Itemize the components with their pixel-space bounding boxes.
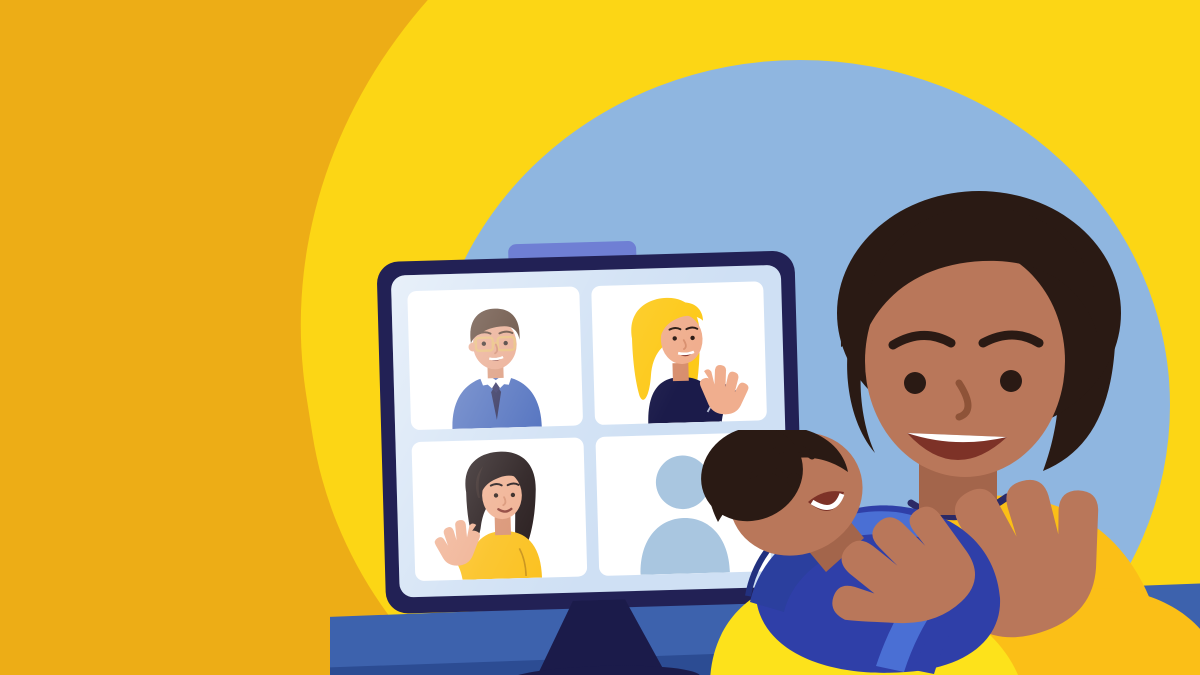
child-figure xyxy=(700,430,1120,675)
participant-blonde-woman-waving-avatar xyxy=(591,281,767,425)
child-illustration xyxy=(700,430,1120,675)
video-tile-participant-dark-haired-woman-waving xyxy=(411,437,587,581)
video-tile-participant-blonde-woman-waving xyxy=(591,281,767,425)
poster-canvas: Positive Parenting Program Seminar Serie… xyxy=(0,0,1200,675)
participant-man-with-glasses-avatar xyxy=(407,286,583,430)
participant-dark-haired-woman-waving-avatar xyxy=(411,437,587,581)
monitor-base xyxy=(506,663,701,675)
monitor-stand xyxy=(534,598,666,675)
video-tile-participant-man-with-glasses xyxy=(407,286,583,430)
